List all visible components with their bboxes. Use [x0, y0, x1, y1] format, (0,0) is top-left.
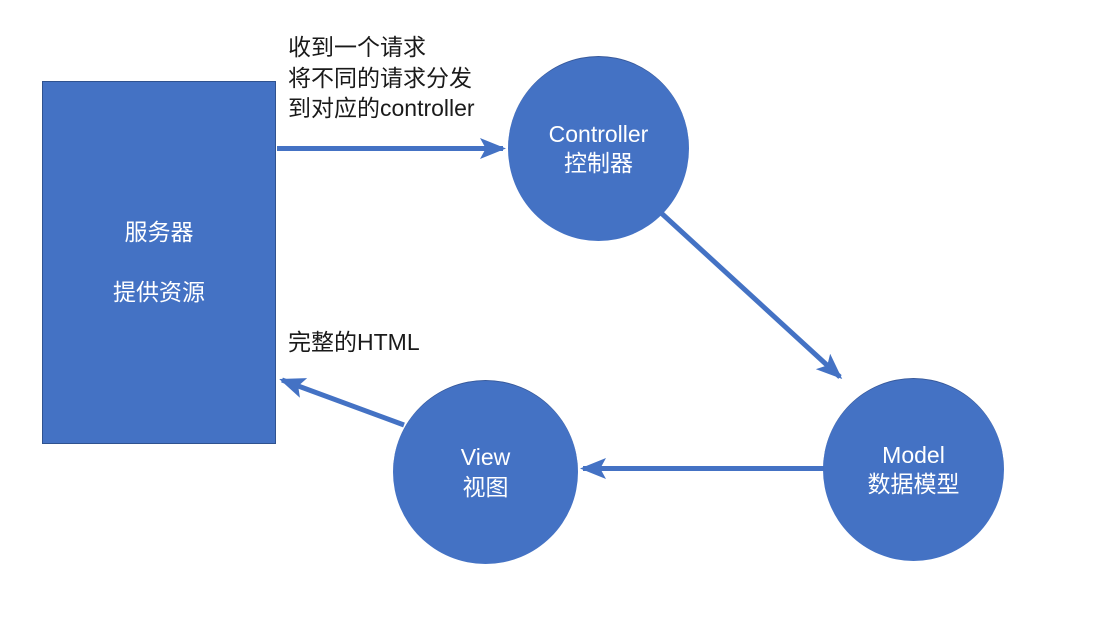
- edge-label-request-dispatch: 收到一个请求 将不同的请求分发 到对应的controller: [288, 32, 475, 124]
- node-controller-label-primary: Controller: [549, 120, 649, 149]
- edge-label-complete-html: 完整的HTML: [288, 327, 420, 358]
- node-view[interactable]: View 视图: [393, 380, 578, 564]
- diagram-canvas: 服务器 提供资源 Controller 控制器 View 视图 Model 数据…: [0, 0, 1094, 637]
- node-controller-label-secondary: 控制器: [564, 149, 633, 178]
- node-model[interactable]: Model 数据模型: [823, 378, 1004, 561]
- node-server-label-secondary: 提供资源: [113, 278, 205, 307]
- edge-controller-to-model: [659, 211, 840, 377]
- node-controller[interactable]: Controller 控制器: [508, 56, 689, 241]
- node-view-label-primary: View: [461, 443, 510, 472]
- node-view-label-secondary: 视图: [463, 473, 509, 502]
- node-model-label-primary: Model: [882, 441, 945, 470]
- edge-view-to-server: [282, 380, 404, 425]
- node-model-label-secondary: 数据模型: [868, 470, 960, 499]
- node-server[interactable]: 服务器 提供资源: [42, 81, 276, 444]
- node-server-label-primary: 服务器: [125, 218, 194, 247]
